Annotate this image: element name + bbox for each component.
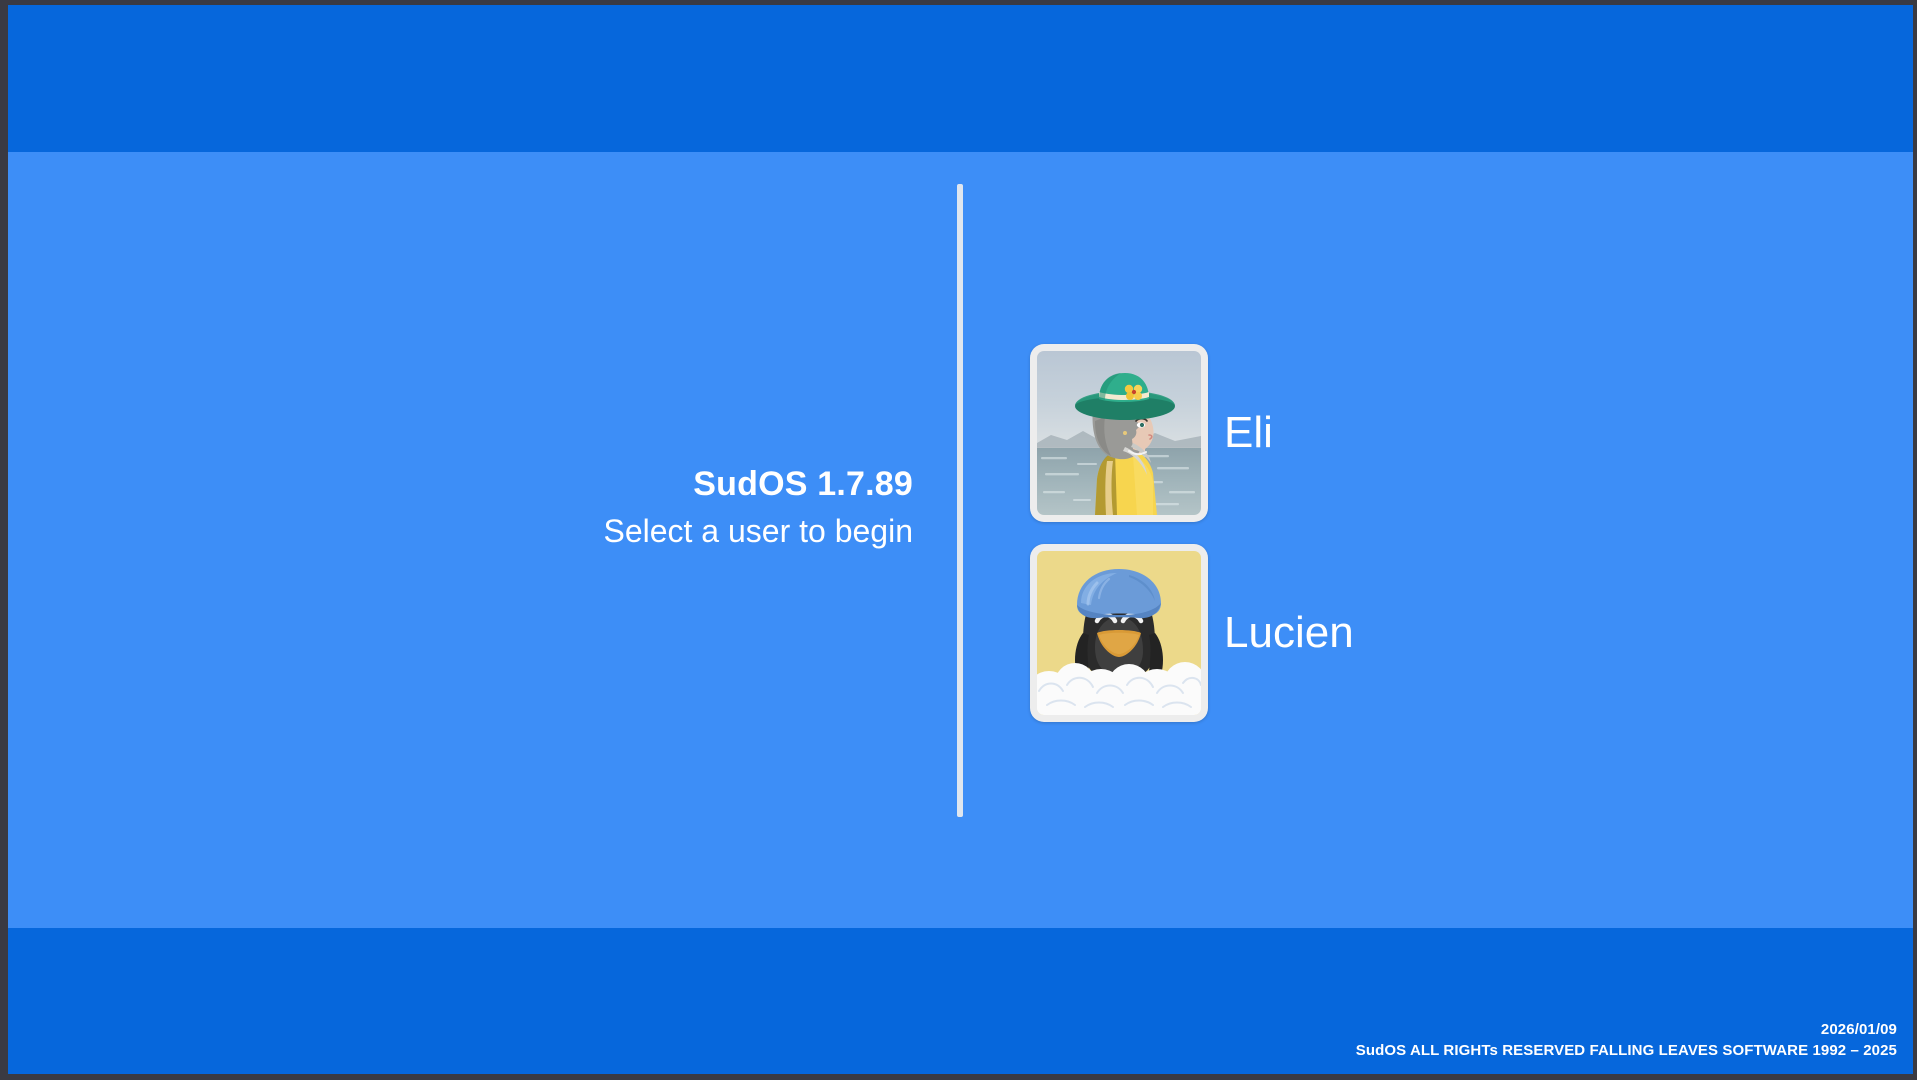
center-content: SudOS 1.7.89 Select a user to begin xyxy=(8,152,1913,928)
user-name-label: Lucien xyxy=(1224,611,1354,655)
tux-penguin-avatar xyxy=(1037,551,1201,715)
top-band xyxy=(8,5,1913,152)
footer: 2026/01/09 SudOS ALL RIGHTs RESERVED FAL… xyxy=(1356,1019,1897,1063)
user-name-label: Eli xyxy=(1224,411,1273,455)
footer-copyright: SudOS ALL RIGHTs RESERVED FALLING LEAVES… xyxy=(1356,1040,1897,1062)
page-subtitle: Select a user to begin xyxy=(293,512,913,550)
avatar-tile[interactable] xyxy=(1030,344,1208,522)
page-title: SudOS 1.7.89 xyxy=(293,464,913,504)
user-list: Eli xyxy=(1030,344,1354,744)
user-entry-eli[interactable]: Eli xyxy=(1030,344,1354,522)
branding-block: SudOS 1.7.89 Select a user to begin xyxy=(293,464,913,551)
user-entry-lucien[interactable]: Lucien xyxy=(1030,544,1354,722)
beach-lady-avatar-icon xyxy=(1037,351,1201,515)
login-screen: SudOS 1.7.89 Select a user to begin xyxy=(0,0,1917,1080)
footer-date: 2026/01/09 xyxy=(1356,1019,1897,1041)
beach-lady-avatar xyxy=(1037,351,1201,515)
vertical-divider xyxy=(957,184,963,817)
avatar-tile[interactable] xyxy=(1030,544,1208,722)
tux-penguin-avatar-icon xyxy=(1037,551,1201,715)
